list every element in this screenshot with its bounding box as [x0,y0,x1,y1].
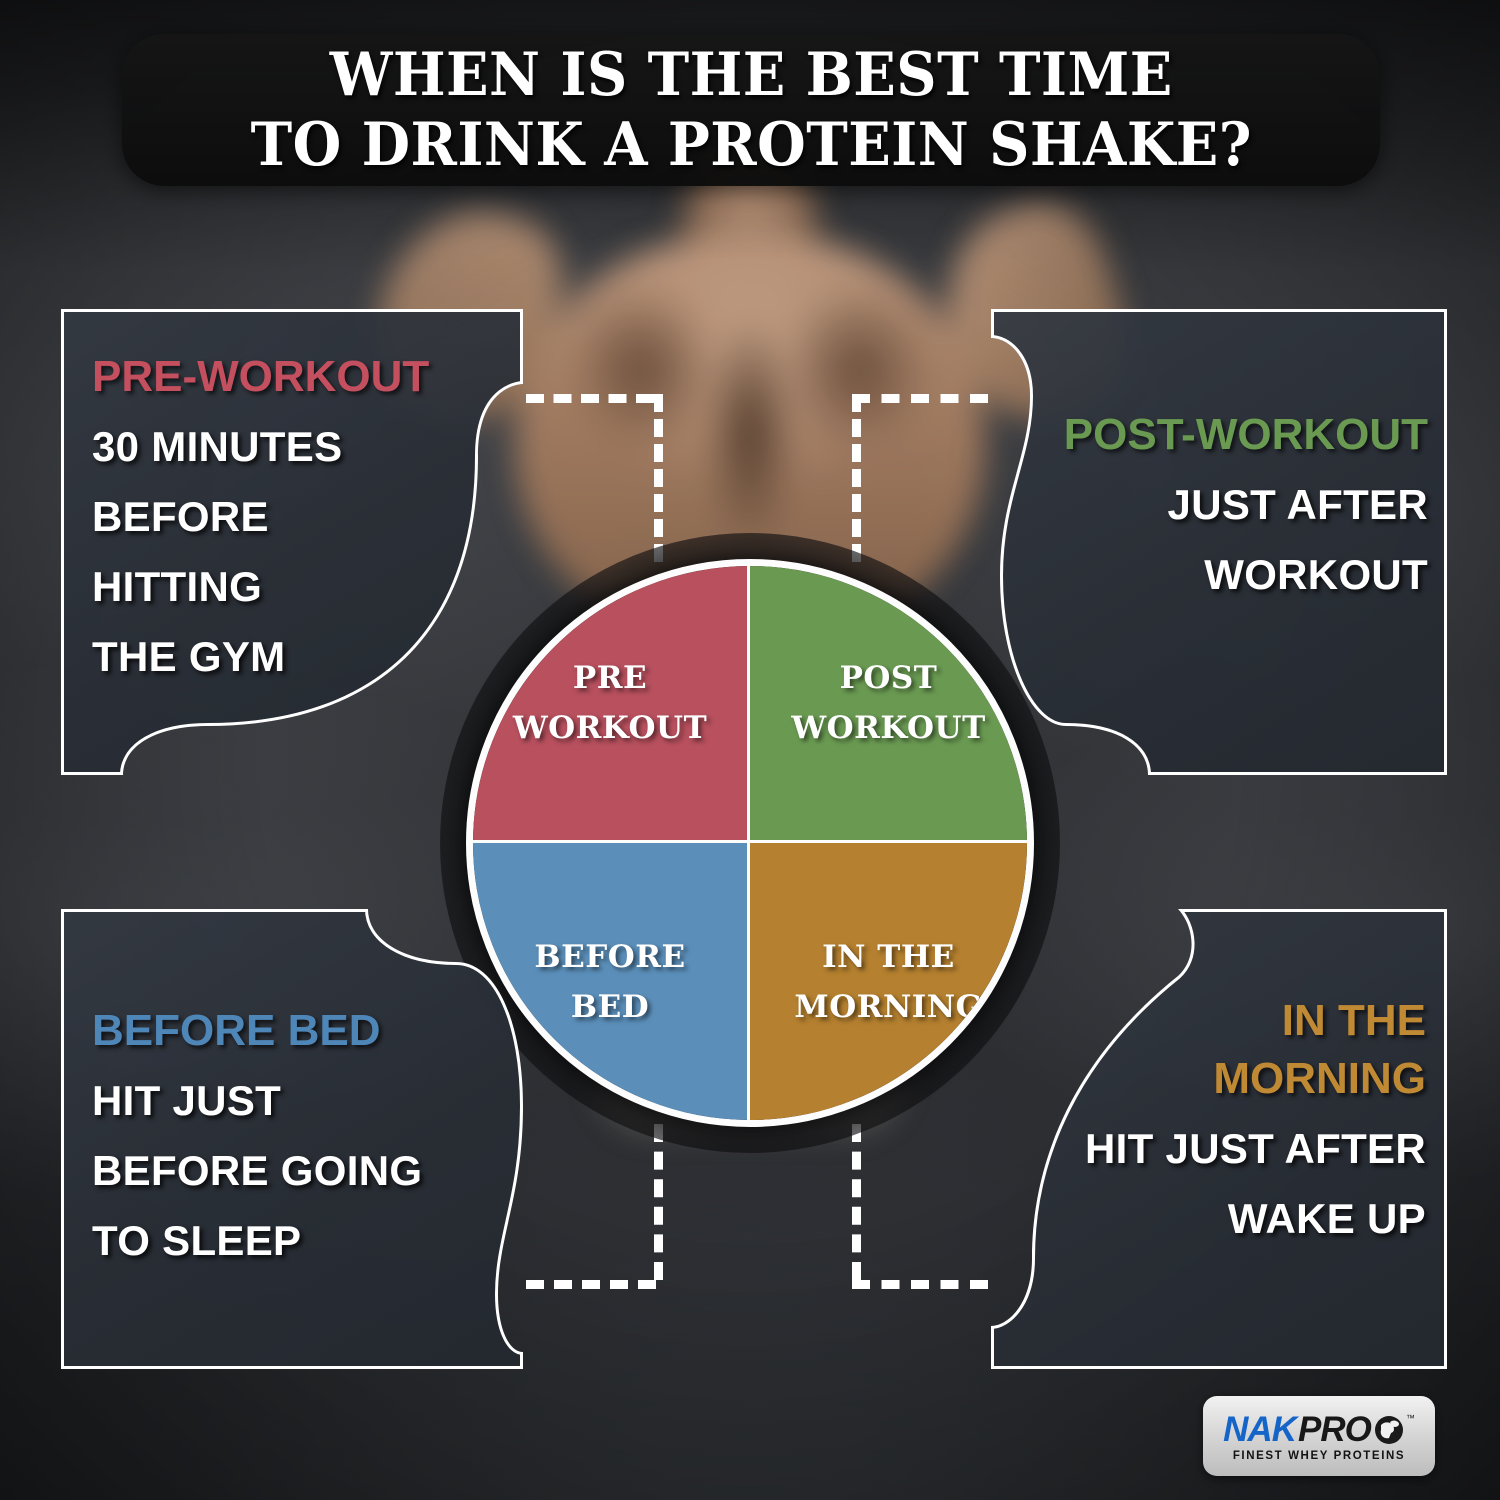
panel-post-workout[interactable]: POST-WORKOUT JUST AFTER WORKOUT [988,306,1450,778]
protein-timing-wheel: PRE WORKOUT POST WORKOUT BEFORE BED IN T… [466,559,1034,1127]
connector-dash-top-left-horizontal [526,394,654,403]
page-title-line1: WHEN IS THE BEST TIME [329,40,1172,110]
wheel-label-morning-line2: MORNING [794,989,982,1025]
wheel-quadrant-before-bed-label: BEFORE BED [526,932,693,1032]
panel-in-the-morning-line-2: WAKE UP [1228,1184,1426,1254]
wheel-quadrant-pre-workout[interactable]: PRE WORKOUT [473,566,750,843]
panel-before-bed-heading: BEFORE BED [92,1002,492,1060]
wheel-label-post-line2: WORKOUT [791,710,985,746]
panel-before-bed[interactable]: BEFORE BED HIT JUST BEFORE GOING TO SLEE… [58,906,526,1372]
connector-dash-top-left-vertical [654,394,663,562]
infographic-poster: WHEN IS THE BEST TIME TO DRINK A PROTEIN… [0,0,1500,1500]
brand-logo-wordmark: NAK PRO ™ [1223,1412,1415,1447]
wheel-quadrant-pre-workout-label: PRE WORKOUT [505,653,715,753]
brand-logo[interactable]: NAK PRO ™ FINEST WHEY PROTEINS [1203,1396,1435,1476]
panel-pre-workout-line-1: 30 MINUTES [92,412,492,482]
brand-name-part1: NAK [1223,1412,1296,1447]
connector-dash-bottom-left-vertical [654,1124,663,1280]
panel-post-workout-line-1: JUST AFTER [1168,470,1428,540]
wheel-quadrant-post-workout[interactable]: POST WORKOUT [750,566,1027,843]
wheel-label-bed-line2: BED [571,989,649,1025]
page-title-line2: TO DRINK A PROTEIN SHAKE? [250,110,1251,180]
trademark-symbol: ™ [1406,1414,1415,1423]
wheel-quadrant-in-the-morning[interactable]: IN THE MORNING [750,843,1027,1120]
panel-before-bed-line-1: HIT JUST [92,1066,492,1136]
wheel-label-pre-line1: PRE [573,660,647,696]
wheel-quadrant-in-the-morning-label: IN THE MORNING [786,932,990,1032]
wheel-label-post-line1: POST [840,660,938,696]
panel-pre-workout-line-2: BEFORE [92,482,492,552]
wheel-label-bed-line1: BEFORE [534,939,685,975]
connector-dash-bottom-right-horizontal [852,1280,988,1289]
wheel-label-pre-line2: WORKOUT [513,710,707,746]
panel-post-workout-heading: POST-WORKOUT [1064,406,1428,464]
connector-dash-bottom-left-horizontal [526,1280,656,1289]
wheel-label-morning-line1: IN THE [822,939,955,975]
connector-dash-bottom-right-vertical [852,1124,861,1280]
connector-dash-top-right-horizontal [852,394,988,403]
brand-name-part2: PRO [1298,1412,1371,1447]
panel-pre-workout-heading: PRE-WORKOUT [92,348,492,406]
brand-tagline: FINEST WHEY PROTEINS [1233,1450,1405,1462]
panel-post-workout-line-2: WORKOUT [1204,540,1428,610]
panel-before-bed-line-3: TO SLEEP [92,1206,492,1276]
flexed-biceps-icon [1374,1414,1404,1446]
panel-before-bed-content: BEFORE BED HIT JUST BEFORE GOING TO SLEE… [58,906,526,1372]
panel-in-the-morning-heading-line2: MORNING [1213,1050,1426,1108]
panel-post-workout-content: POST-WORKOUT JUST AFTER WORKOUT [988,306,1450,778]
page-title-banner: WHEN IS THE BEST TIME TO DRINK A PROTEIN… [122,34,1380,186]
wheel-quadrant-post-workout-label: POST WORKOUT [783,653,993,753]
panel-pre-workout-line-3: HITTING [92,552,492,622]
connector-dash-top-right-vertical [852,394,861,562]
panel-in-the-morning-line-1: HIT JUST AFTER [1085,1114,1426,1184]
panel-in-the-morning-heading-line1: IN THE [1282,992,1426,1050]
panel-before-bed-line-2: BEFORE GOING [92,1136,492,1206]
wheel-circle: PRE WORKOUT POST WORKOUT BEFORE BED IN T… [466,559,1034,1127]
